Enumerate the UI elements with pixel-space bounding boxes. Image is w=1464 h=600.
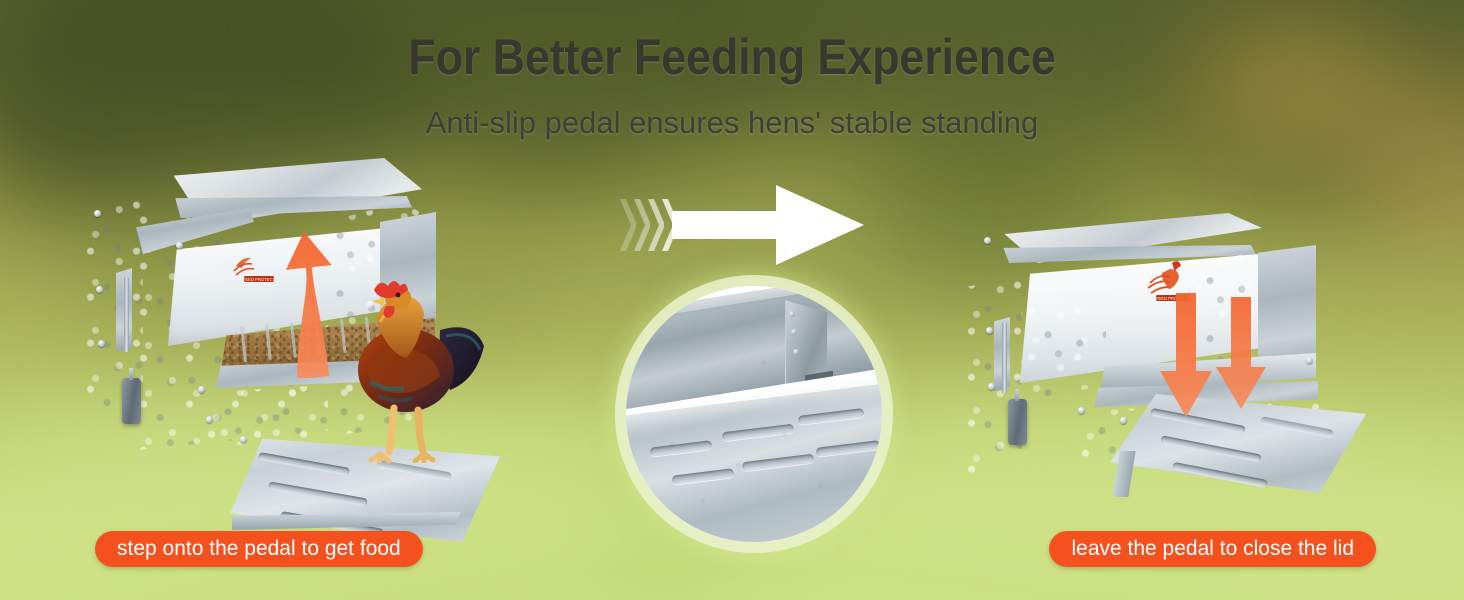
transition-arrow-group <box>620 185 880 265</box>
screw <box>1078 407 1085 414</box>
product-image-lid-closed: FEED PROTECT <box>960 205 1360 510</box>
screw <box>98 340 105 347</box>
screw <box>986 327 993 334</box>
counterweight-stem <box>1015 389 1019 401</box>
rooster-brand-decal: FEED PROTECT <box>230 246 282 286</box>
screw <box>94 210 101 217</box>
feeder-hinge-rod <box>1002 323 1007 393</box>
arrow-down-orange <box>1156 293 1216 417</box>
right-arrow-icon <box>672 185 864 265</box>
screw <box>206 416 213 423</box>
screw <box>1120 417 1127 424</box>
rooster <box>328 278 488 463</box>
page-subtitle: Anti-slip pedal ensures hens' stable sta… <box>0 104 1464 141</box>
feeder-inner-panel <box>1026 301 1106 401</box>
screw <box>988 383 995 390</box>
arrow-down-orange <box>1212 297 1270 409</box>
product-image-lid-open: FEED PROTECT <box>80 150 480 520</box>
promo-banner: For Better Feeding Experience Anti-slip … <box>0 0 1464 600</box>
counterweight-stem <box>129 368 133 380</box>
svg-text:FEED PROTECT: FEED PROTECT <box>243 277 276 282</box>
screw <box>240 436 247 443</box>
page-title: For Better Feeding Experience <box>73 32 1391 83</box>
pedal-detail-circle-inset <box>626 286 882 542</box>
feeder-hinge-rod <box>124 278 129 352</box>
caption-badge-right[interactable]: leave the pedal to close the lid <box>1049 531 1376 567</box>
screw <box>984 237 991 244</box>
screw <box>176 242 183 249</box>
screw <box>1306 357 1313 364</box>
screw <box>198 386 205 393</box>
screw <box>96 286 103 293</box>
counterweight-cylinder <box>1008 399 1027 445</box>
caption-badge-left[interactable]: step onto the pedal to get food <box>95 531 423 567</box>
inset-metal-speckle <box>626 286 882 542</box>
counterweight-cylinder <box>122 378 141 424</box>
